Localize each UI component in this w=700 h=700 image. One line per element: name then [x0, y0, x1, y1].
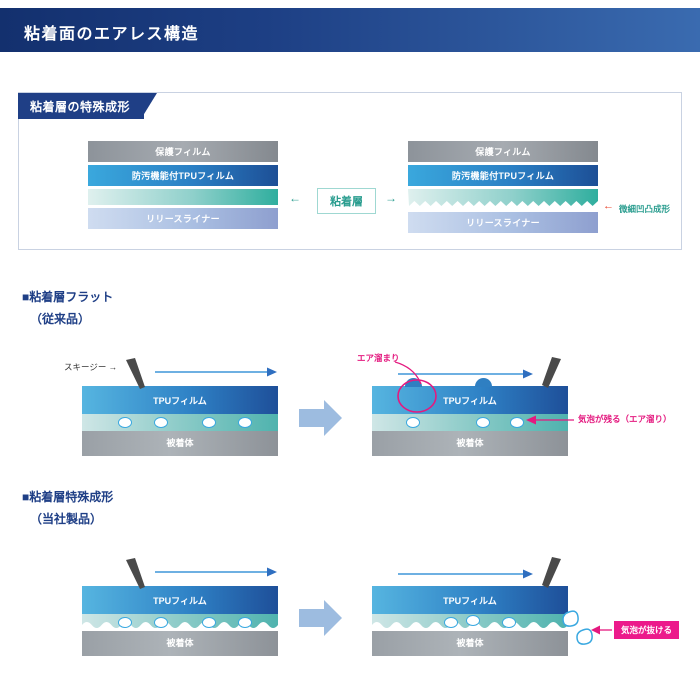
process-arrow-icon-1	[299, 398, 343, 438]
adhesive-callout-arrow-right: →	[385, 191, 397, 205]
bubble-remains-arrow-icon	[522, 414, 574, 426]
squeegee-icon-4	[538, 556, 564, 590]
bubble-escape-badge: 気泡が抜ける	[614, 621, 679, 639]
structure-panel-tab: 粘着層の特殊成形	[18, 93, 144, 119]
structure-panel-tab-label: 粘着層の特殊成形	[30, 98, 130, 115]
layer-protective-film-label: 保護フィルム	[155, 145, 210, 158]
squeegee-direction-arrow-icon	[155, 366, 277, 378]
air-bubble	[202, 417, 216, 428]
air-bubble	[118, 617, 132, 628]
section-2-heading: ■粘着層特殊成形	[22, 488, 113, 505]
diagram-textured-after-tpu-label: TPUフィルム	[372, 594, 568, 607]
air-pocket-annotation-label: エア溜まり	[357, 352, 400, 364]
adhesive-callout-arrow-left: ←	[289, 191, 301, 205]
air-bubble	[238, 417, 252, 428]
squeegee-icon-2	[538, 356, 564, 390]
air-bubble	[476, 417, 490, 428]
squeegee-icon-3	[124, 558, 148, 590]
diagram-textured-before-tpu-label: TPUフィルム	[82, 594, 278, 607]
squeegee-icon	[124, 358, 148, 390]
layer-antifouling-tpu-film-2: 防汚機能付TPUフィルム	[408, 165, 598, 186]
layer-release-liner-2: リリースライナー	[408, 212, 598, 233]
air-bubble	[502, 617, 516, 628]
layer-release-liner-2-label: リリースライナー	[466, 216, 540, 229]
layer-adhesive-flat	[88, 189, 278, 205]
adhesive-callout-box: 粘着層	[317, 188, 376, 214]
diagram-flat-before-base-label: 被着体	[82, 436, 278, 449]
page-title: 粘着面のエアレス構造	[24, 20, 199, 44]
air-bubble	[406, 417, 420, 428]
escape-arrow-icon	[590, 624, 612, 636]
layer-release-liner: リリースライナー	[88, 208, 278, 229]
diagram-textured-before: TPUフィルム 被着体	[82, 586, 278, 648]
layer-protective-film: 保護フィルム	[88, 141, 278, 162]
air-bubble	[444, 617, 458, 628]
air-bubble	[202, 617, 216, 628]
air-bubble	[466, 615, 480, 626]
section-1-heading: ■粘着層フラット	[22, 288, 113, 305]
squeegee-direction-arrow-icon-4	[398, 568, 533, 580]
air-bubble	[154, 617, 168, 628]
layer-adhesive-textured	[408, 189, 598, 211]
diagram-textured-after-base-label: 被着体	[372, 636, 568, 649]
layer-protective-film-2: 保護フィルム	[408, 141, 598, 162]
diagram-textured-before-base-label: 被着体	[82, 636, 278, 649]
diagram-flat-before: TPUフィルム 被着体	[82, 386, 278, 448]
diagram-flat-after-base-label: 被着体	[372, 436, 568, 449]
layer-antifouling-tpu-film-2-label: 防汚機能付TPUフィルム	[452, 169, 554, 182]
section-1-subheading: （従来品）	[30, 310, 90, 327]
air-bubble	[238, 617, 252, 628]
panel-tab-slant-decoration	[141, 93, 157, 119]
squeegee-direction-arrow-icon-3	[155, 566, 277, 578]
fine-texture-label: 微細凹凸成形	[619, 203, 670, 215]
air-pocket-highlight-circle	[396, 378, 438, 414]
squeegee-label: スキージー →	[64, 361, 117, 373]
air-bubble	[118, 417, 132, 428]
layer-antifouling-tpu-film-label: 防汚機能付TPUフィルム	[132, 169, 234, 182]
layer-antifouling-tpu-film: 防汚機能付TPUフィルム	[88, 165, 278, 186]
air-bubble	[154, 417, 168, 428]
process-arrow-icon-2	[299, 598, 343, 638]
section-2-subheading: （当社製品）	[30, 510, 102, 527]
bubble-remains-annotation-label: 気泡が残る（エア溜り）	[578, 413, 672, 425]
layer-protective-film-2-label: 保護フィルム	[475, 145, 530, 158]
diagram-textured-after: TPUフィルム 被着体	[372, 586, 568, 648]
adhesive-wave-shape	[408, 189, 598, 211]
layer-release-liner-label: リリースライナー	[146, 212, 220, 225]
layer-stack-textured: 保護フィルム 防汚機能付TPUフィルム リリースライナー	[408, 141, 598, 236]
page-header: 粘着面のエアレス構造	[0, 8, 700, 52]
diagram-flat-before-tpu-label: TPUフィルム	[82, 394, 278, 407]
fine-texture-arrow-icon: ←	[603, 200, 614, 212]
layer-stack-flat: 保護フィルム 防汚機能付TPUフィルム リリースライナー	[88, 141, 278, 232]
